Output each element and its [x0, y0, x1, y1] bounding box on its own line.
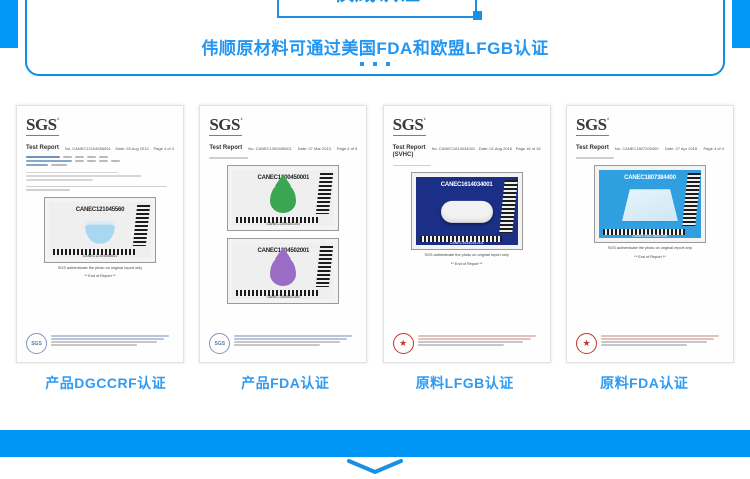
report-date: Date: 03 Aug 2012	[116, 146, 149, 151]
sample-photo-bg: CANEC1614034001 CANEC1614034-001	[416, 177, 518, 245]
end-of-report-note: ** End of Report **	[26, 274, 174, 280]
title-corner-square	[473, 11, 482, 20]
ruler-vertical-icon	[316, 246, 333, 287]
sgs-logo-icon: SGS‘	[26, 116, 59, 136]
report-notes	[26, 172, 174, 181]
authenticate-note: SGS authenticate the photo on original r…	[576, 246, 724, 252]
report-meta: No. CANEC1300450001 Date: 07 Mar 2013 Pa…	[248, 145, 357, 151]
result-table	[26, 156, 174, 165]
sample-object-drop-purple	[270, 256, 296, 286]
caption-cert-1: 产品DGCCRF认证	[16, 373, 196, 399]
report-date: Date: 07 Mar 2013	[298, 146, 331, 151]
sample-photo-caption: CANEC1614034-001	[416, 241, 518, 245]
scroll-down-chevron[interactable]	[0, 459, 750, 479]
report-footer: SGS	[26, 333, 174, 354]
banner-title-box: 权威认证	[277, 0, 477, 18]
sample-object-case	[441, 201, 493, 223]
sample-photo-bg: CANEC1300450001 CANEC1300450-001	[232, 170, 334, 226]
authenticate-note: SGS authenticate the photo on original r…	[26, 266, 174, 272]
report-page: Page 4 of 4	[704, 146, 724, 151]
report-header: Test Report No. CANEC12104556001 Date: 0…	[26, 145, 174, 153]
footer-fine-print	[601, 333, 724, 347]
section-label	[209, 157, 357, 159]
report-title: Test Report	[209, 145, 242, 153]
sample-photo-code: CANEC1807384400	[599, 175, 701, 181]
banner-title: 权威认证	[333, 0, 421, 7]
report-header: Test Report (SVHC) No. CANEC1614034001 D…	[393, 145, 541, 160]
sample-photo: CANEC1304502001 CANEC1304502-002	[227, 238, 339, 304]
cnas-stamp-icon: ★	[393, 333, 414, 354]
report-page: Page 4 of 4	[154, 146, 174, 151]
sgs-logo-icon: SGS‘	[393, 116, 426, 136]
sample-photo-bg: CANEC1807384400 CANEC18073844-001	[599, 170, 701, 238]
sgs-stamp-icon: SGS	[209, 333, 230, 354]
sample-photo-caption: CANEC18073844-001	[599, 234, 701, 238]
report-footer: SGS	[209, 333, 357, 354]
report-no: No. CANEC1807200400	[615, 146, 659, 151]
sgs-logo-icon: SGS‘	[209, 116, 242, 136]
report-page: Page 4 of 5	[337, 146, 357, 151]
ruler-vertical-icon	[316, 173, 333, 214]
section-label	[576, 157, 724, 159]
report-footer: ★	[393, 333, 541, 354]
section-label	[393, 165, 541, 167]
sample-photo: CANEC1300450001 CANEC1300450-001	[227, 165, 339, 231]
footer-fine-print	[51, 333, 174, 347]
certificate-gallery: SGS‘ Test Report No. CANEC12104556001 Da…	[0, 105, 750, 365]
sgs-stamp-icon: SGS	[26, 333, 47, 354]
report-no: No. CANEC1614034001	[432, 146, 476, 151]
sample-photo-code: CANEC1614034001	[416, 182, 518, 188]
report-meta: No. CANEC12104556001 Date: 03 Aug 2012 P…	[65, 145, 174, 151]
ruler-vertical-icon	[133, 205, 150, 246]
caption-cert-2: 产品FDA认证	[196, 373, 376, 399]
report-no: No. CANEC1300450001	[248, 146, 292, 151]
dot-2	[373, 62, 377, 66]
certificate-captions: 产品DGCCRF认证 产品FDA认证 原料LFGB认证 原料FDA认证	[0, 373, 750, 399]
sample-photo: CANEC1614034001 CANEC1614034-001	[411, 172, 523, 250]
report-meta: No. CANEC1807200400 Date: 27 Apr 2018 Pa…	[615, 145, 724, 151]
banner-subtitle: 伟顺原材料可通过美国FDA和欧盟LFGB认证	[0, 34, 750, 59]
report-meta: No. CANEC1614034001 Date: 01 Aug 2016 Pa…	[432, 145, 541, 151]
dot-1	[360, 62, 364, 66]
report-date: Date: 01 Aug 2016	[479, 146, 512, 151]
sample-photo-bg: CANEC1304502001 CANEC1304502-002	[232, 243, 334, 299]
certificate-card[interactable]: SGS‘ Test Report No. CANEC12104556001 Da…	[16, 105, 184, 363]
sample-photo-bg: CANEC121045560 CANEC12104556001	[49, 202, 151, 258]
banner-dots	[0, 62, 750, 66]
sample-object-sheet	[622, 189, 678, 221]
sample-photo: CANEC121045560 CANEC12104556001	[44, 197, 156, 263]
sample-object-bowl	[85, 221, 115, 243]
report-header: Test Report No. CANEC1300450001 Date: 07…	[209, 145, 357, 153]
page-root: 权威认证 伟顺原材料可通过美国FDA和欧盟LFGB认证 SGS‘ Test Re…	[0, 0, 750, 479]
report-title: Test Report	[26, 145, 59, 153]
certificate-card[interactable]: SGS‘ Test Report (SVHC) No. CANEC1614034…	[383, 105, 551, 363]
sample-remark	[26, 186, 174, 191]
report-title: Test Report (SVHC)	[393, 145, 426, 160]
sample-object-drop-green	[270, 183, 296, 213]
report-header: Test Report No. CANEC1807200400 Date: 27…	[576, 145, 724, 153]
banner-section: 权威认证 伟顺原材料可通过美国FDA和欧盟LFGB认证	[0, 0, 750, 100]
report-date: Date: 27 Apr 2018	[665, 146, 697, 151]
report-page: Page 16 of 16	[516, 146, 541, 151]
bottom-blue-bar	[0, 430, 750, 457]
sample-photo: CANEC1807384400 CANEC18073844-001	[594, 165, 706, 243]
certificate-card[interactable]: SGS‘ Test Report No. CANEC1300450001 Dat…	[199, 105, 367, 363]
sample-photo-caption-2: CANEC1304502-002	[232, 295, 334, 299]
sgs-logo-icon: SGS‘	[576, 116, 609, 136]
dot-3	[386, 62, 390, 66]
chevron-down-icon	[345, 459, 405, 475]
certificate-card[interactable]: SGS‘ Test Report No. CANEC1807200400 Dat…	[566, 105, 734, 363]
end-of-report-note: ** End of Report **	[576, 255, 724, 261]
caption-cert-3: 原料LFGB认证	[375, 373, 555, 399]
cnas-stamp-icon: ★	[576, 333, 597, 354]
footer-fine-print	[234, 333, 357, 347]
caption-cert-4: 原料FDA认证	[555, 373, 735, 399]
sample-photo-caption: CANEC1300450-001	[232, 222, 334, 226]
report-title: Test Report	[576, 145, 609, 153]
footer-fine-print	[418, 333, 541, 347]
sample-photo-caption: CANEC12104556001	[49, 254, 151, 258]
end-of-report-note: ** End of Report **	[393, 262, 541, 268]
authenticate-note: SGS authenticate the photo on original r…	[393, 253, 541, 259]
report-footer: ★	[576, 333, 724, 354]
report-no: No. CANEC12104556001	[65, 146, 111, 151]
